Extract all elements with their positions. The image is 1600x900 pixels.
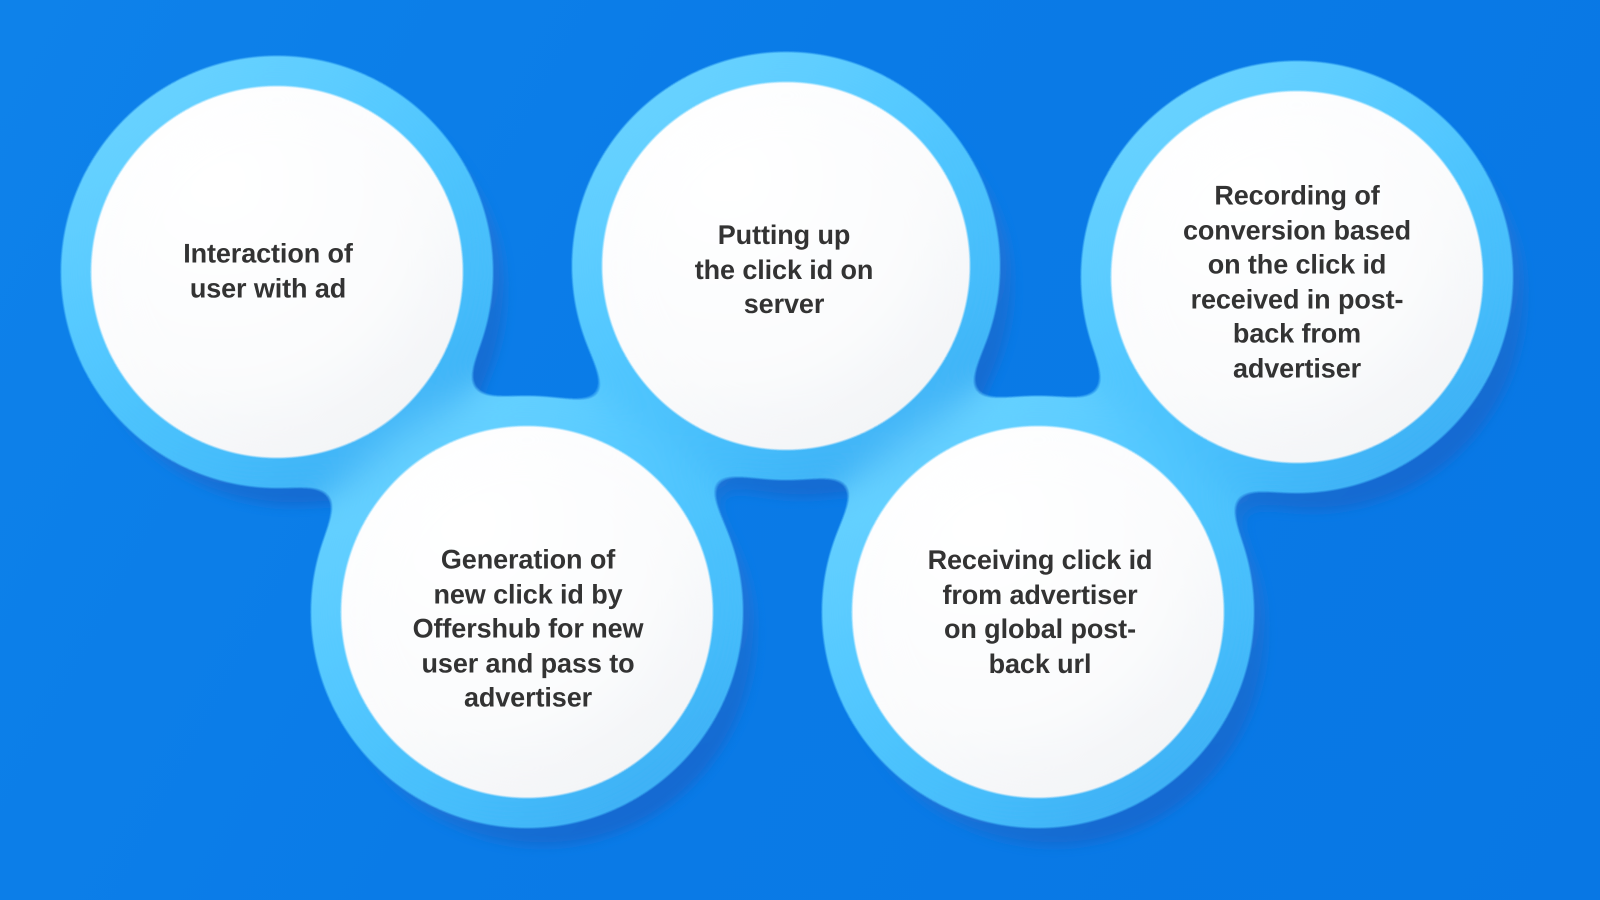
bubble-recording-of-conversion[interactable] bbox=[1111, 91, 1483, 463]
diagram-canvas: Interaction of user with adGeneration of… bbox=[0, 0, 1600, 900]
bubble-receiving-click-id-postback[interactable] bbox=[852, 426, 1224, 798]
bubble-interaction-with-ad[interactable] bbox=[91, 86, 463, 458]
bubble-generation-of-click-id[interactable] bbox=[341, 426, 713, 798]
bubble-putting-up-click-id-on-server[interactable] bbox=[602, 82, 970, 450]
